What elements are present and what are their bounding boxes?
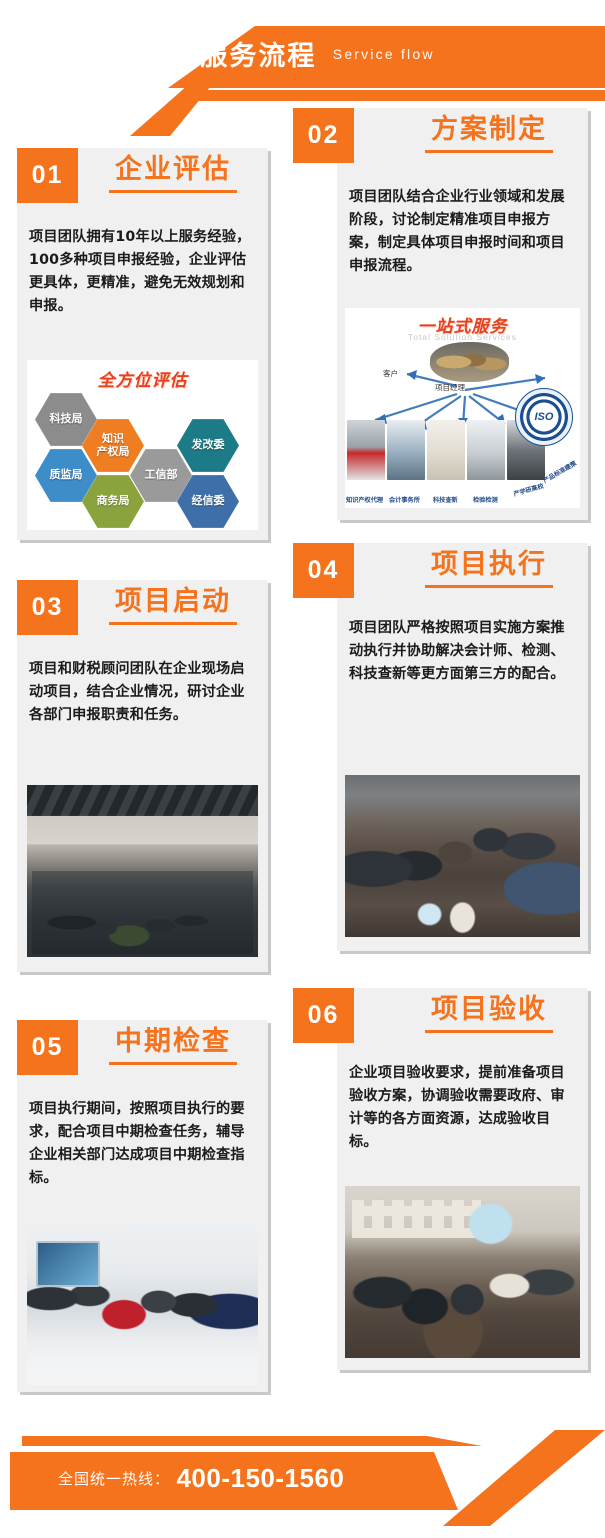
- title-underline: [109, 622, 237, 625]
- collage-thumb-ip: [347, 420, 385, 480]
- step-title-group: 项目执行: [395, 551, 583, 588]
- hexagon-diagram: 全方位评估 科技局 知识产权局 质监局 商务局 工信部 发改委 经信委: [27, 360, 258, 530]
- step-card-04: 04 项目执行 项目团队严格按照项目实施方案推动执行并协助解决会计师、检测、科技…: [337, 543, 588, 951]
- step-title: 项目验收: [395, 996, 583, 1023]
- step-figure-photo: [27, 785, 258, 957]
- collage-hero-photo: [430, 342, 510, 382]
- step-title-group: 项目验收: [395, 996, 583, 1033]
- footer-hotline-group: 全国统一热线： 400-150-1560: [58, 1463, 344, 1494]
- iso-seal-label: ISO: [516, 389, 572, 445]
- step-description: 项目团队拥有10年以上服务经验，100多种项目申报经验，企业评估更具体，更精准，…: [29, 226, 257, 318]
- step-title: 中期检查: [78, 1028, 268, 1055]
- collage-thumb-tech-search: [427, 420, 465, 480]
- step-card-01: 01 企业评估 项目团队拥有10年以上服务经验，100多种项目申报经验，企业评估…: [17, 148, 268, 540]
- collage-node-customer: 客户: [383, 368, 398, 379]
- step-title-group: 项目启动: [78, 588, 268, 625]
- step-title: 企业评估: [78, 156, 268, 183]
- title-underline: [425, 1030, 553, 1033]
- step-number-badge: 03: [17, 580, 78, 635]
- title-underline: [109, 190, 237, 193]
- one-stop-service-collage: 一站式服务 Total Solution Services: [345, 308, 580, 508]
- collage-label-tech-search: 科技查新: [433, 495, 458, 504]
- step-description: 企业项目验收要求，提前准备项目验收方案，协调验收需要政府、审计等的各方面资源，达…: [349, 1062, 577, 1154]
- footer-accent-stripe: [22, 1436, 605, 1446]
- collage-label-accounting: 会计事务所: [389, 495, 420, 504]
- step-number: 01: [32, 161, 64, 190]
- step-number: 02: [308, 121, 340, 150]
- header-accent-stripe: [0, 90, 605, 101]
- step-title: 项目执行: [395, 551, 583, 578]
- step-number: 05: [32, 1033, 64, 1062]
- collage-label-ip: 知识产权代理: [346, 495, 383, 504]
- step-figure-one-stop-service: 一站式服务 Total Solution Services: [345, 308, 580, 508]
- step-title: 方案制定: [395, 116, 583, 143]
- step-number-badge: 05: [17, 1020, 78, 1075]
- step-description: 项目和财税顾问团队在企业现场启动项目，结合企业情况，研讨企业各部门申报职责和任务…: [29, 658, 257, 727]
- page-subtitle: Service flow: [333, 46, 435, 62]
- collage-label-inspection: 检验检测: [473, 495, 498, 504]
- hex-node-label: 知识产权局: [97, 433, 130, 458]
- step-card-05: 05 中期检查 项目执行期间，按照项目执行的要求，配合项目中期检查任务，辅导企业…: [17, 1020, 268, 1392]
- page-footer: 全国统一热线： 400-150-1560: [0, 1430, 605, 1538]
- step-figure-hexagon: 全方位评估 科技局 知识产权局 质监局 商务局 工信部 发改委 经信委: [27, 360, 258, 530]
- step-title-group: 中期检查: [78, 1028, 268, 1065]
- step-title: 项目启动: [78, 588, 268, 615]
- title-underline: [109, 1062, 237, 1065]
- step-figure-photo: [345, 1186, 580, 1358]
- collage-thumb-accounting: [387, 420, 425, 480]
- photo-conference-room: [27, 785, 258, 957]
- step-number: 06: [308, 1001, 340, 1030]
- hex-node-fagai: 发改委: [177, 418, 239, 473]
- hex-node-label: 商务局: [97, 495, 130, 508]
- collage-iso-seal: ISO: [515, 388, 573, 446]
- title-underline: [425, 585, 553, 588]
- step-description: 项目团队结合企业行业领域和发展阶段，讨论制定精准项目申报方案，制定具体项目申报时…: [349, 186, 577, 278]
- hex-node-label: 科技局: [50, 413, 83, 426]
- hexagon-diagram-title: 全方位评估: [27, 366, 258, 391]
- step-number-badge: 06: [293, 988, 354, 1043]
- page-header: 服务流程 Service flow: [0, 0, 605, 108]
- step-number: 03: [32, 593, 64, 622]
- step-figure-photo: [345, 775, 580, 937]
- step-card-03: 03 项目启动 项目和财税顾问团队在企业现场启动项目，结合企业情况，研讨企业各部…: [17, 580, 268, 972]
- title-underline: [425, 150, 553, 153]
- hex-node-label: 经信委: [192, 495, 225, 508]
- step-description: 项目执行期间，按照项目执行的要求，配合项目中期检查任务，辅导企业相关部门达成项目…: [29, 1098, 257, 1190]
- step-number-badge: 04: [293, 543, 354, 598]
- step-number: 04: [308, 556, 340, 585]
- step-description: 项目团队严格按照项目实施方案推动执行并协助解决会计师、检测、科技查新等更方面第三…: [349, 617, 577, 686]
- step-figure-photo: [27, 1225, 258, 1385]
- photo-laptops-meeting: [345, 775, 580, 937]
- step-card-06: 06 项目验收 企业项目验收要求，提前准备项目验收方案，协调验收需要政府、审计等…: [337, 988, 588, 1370]
- collage-subtitle: Total Solution Services: [345, 332, 580, 342]
- collage-thumb-inspection: [467, 420, 505, 480]
- photo-showroom-visit: [27, 1225, 258, 1385]
- photo-boardroom-review: [345, 1186, 580, 1358]
- collage-node-project-manager: 项目经理: [435, 382, 465, 393]
- hotline-number[interactable]: 400-150-1560: [176, 1463, 344, 1493]
- page-title: 服务流程: [200, 41, 316, 71]
- step-number-badge: 02: [293, 108, 354, 163]
- step-title-group: 方案制定: [395, 116, 583, 153]
- step-card-02: 02 方案制定 项目团队结合企业行业领域和发展阶段，讨论制定精准项目申报方案，制…: [337, 108, 588, 520]
- hex-node-label: 工信部: [145, 469, 178, 482]
- header-title-group: 服务流程 Service flow: [0, 34, 605, 73]
- hotline-label: 全国统一热线：: [58, 1471, 170, 1488]
- hex-node-label: 发改委: [192, 439, 225, 452]
- hex-node-label: 质监局: [50, 469, 83, 482]
- step-number-badge: 01: [17, 148, 78, 203]
- step-title-group: 企业评估: [78, 156, 268, 193]
